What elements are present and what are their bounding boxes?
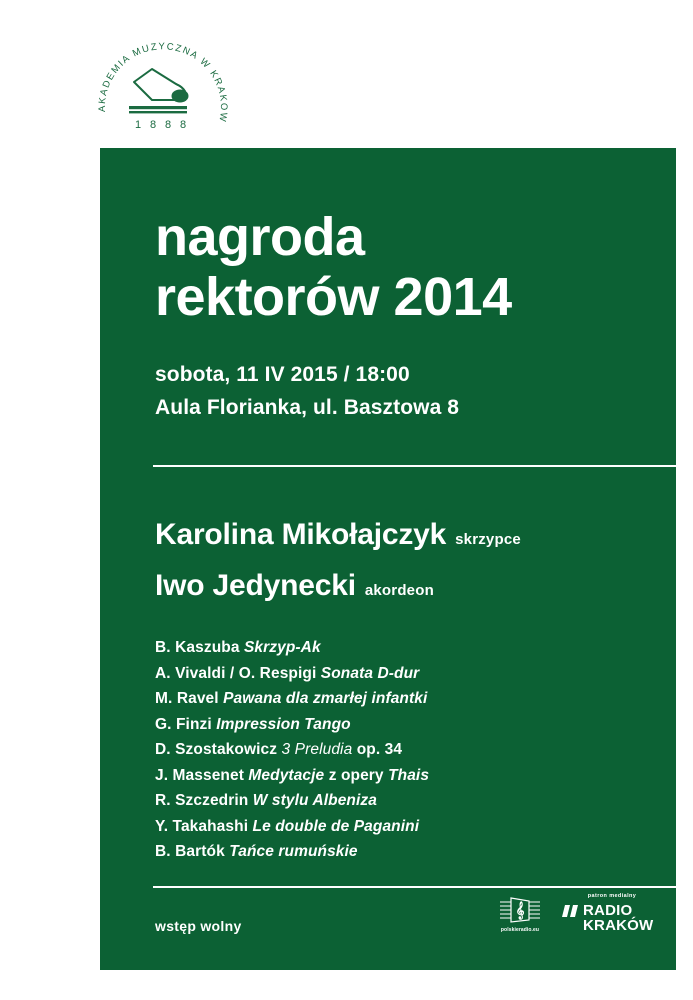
poster-panel: nagroda rektorów 2014 sobota, 11 IV 2015… [100,148,676,970]
program-item: B. Kaszuba Skrzyp-Ak [155,635,655,661]
program-opus: op. 34 [357,741,402,758]
footer-logos: 𝄞 polskieradio.eu patron medialny RADIO … [494,893,662,933]
performer-instrument: skrzypce [455,517,521,563]
program-work: Sonata D-dur [321,665,420,682]
performer-name: Iwo Jedynecki [155,563,356,609]
program-composer: G. Finzi [155,716,212,733]
performer-row: Karolina Mikołajczyk skrzypce [155,512,665,563]
radio-name-line-1: RADIO [583,903,653,918]
academy-logo-icon: AKADEMIA MUZYCZNA W KRAKOWIE 1 8 8 8 [88,36,238,146]
performers-list: Karolina Mikołajczyk skrzypce Iwo Jedyne… [155,512,665,614]
event-date: sobota, 11 IV 2015 / 18:00 [155,358,655,391]
program-composer: Y. Takahashi [155,818,248,835]
performer-instrument: akordeon [365,568,434,614]
patron-label: patron medialny [562,893,662,899]
program-composer: A. Vivaldi / O. Respigi [155,665,316,682]
program-connector: z opery [329,767,384,784]
program-work: Le double de Paganini [253,818,420,835]
divider-bottom [153,886,676,888]
program-item: J. Massenet Medytacje z opery Thais [155,763,655,789]
svg-text:𝄞: 𝄞 [516,901,525,920]
program-item: A. Vivaldi / O. Respigi Sonata D-dur [155,661,655,687]
radio-name-line-2: KRAKÓW [583,918,653,933]
svg-text:8: 8 [165,119,171,131]
poster-title: nagroda rektorów 2014 [155,207,655,327]
program-work: Medytacje [248,767,324,784]
event-venue: Aula Florianka, ul. Basztowa 8 [155,391,655,424]
program-item: D. Szostakowicz 3 Preludia op. 34 [155,737,655,763]
program-composer: J. Massenet [155,767,244,784]
title-line-2: rektorów 2014 [155,267,655,327]
program-item: M. Ravel Pawana dla zmarłej infantki [155,686,655,712]
program-work: Pawana dla zmarłej infantki [223,690,427,707]
svg-text:AKADEMIA MUZYCZNA W KRAKOWIE: AKADEMIA MUZYCZNA W KRAKOWIE [88,36,229,124]
academy-logo: AKADEMIA MUZYCZNA W KRAKOWIE 1 8 8 8 [88,36,238,146]
title-line-1: nagroda [155,207,655,267]
svg-text:8: 8 [150,119,156,131]
svg-text:1: 1 [135,119,141,131]
program-item: Y. Takahashi Le double de Paganini [155,814,655,840]
program-work: Impression Tango [216,716,351,733]
divider-top [153,465,676,467]
program-composer: M. Ravel [155,690,219,707]
program-item: G. Finzi Impression Tango [155,712,655,738]
program-work: Skrzyp-Ak [244,639,321,656]
program-item: R. Szczedrin W stylu Albeniza [155,788,655,814]
program-composer: R. Szczedrin [155,792,248,809]
program-composer: D. Szostakowicz [155,741,277,758]
quote-mark-icon [562,905,579,918]
program-composer: B. Kaszuba [155,639,240,656]
program-list: B. Kaszuba Skrzyp-Ak A. Vivaldi / O. Res… [155,635,655,865]
program-item: B. Bartók Tańce rumuńskie [155,839,655,865]
sponsor-logo-caption: polskieradio.eu [494,927,546,933]
program-composer: B. Bartók [155,843,225,860]
performer-name: Karolina Mikołajczyk [155,512,446,558]
sponsor-logo: 𝄞 polskieradio.eu [494,895,546,933]
svg-text:8: 8 [180,119,186,131]
program-work-secondary: Thais [388,767,429,784]
event-details: sobota, 11 IV 2015 / 18:00 Aula Floriank… [155,358,655,424]
media-patron-logo: patron medialny RADIO KRAKÓW [562,893,662,933]
admission-note: wstęp wolny [155,918,242,934]
program-work: W stylu Albeniza [253,792,377,809]
program-work: 3 Preludia [282,741,353,758]
program-work: Tańce rumuńskie [229,843,357,860]
polskie-radio-score-icon: 𝄞 [498,895,542,925]
performer-row: Iwo Jedynecki akordeon [155,563,665,614]
